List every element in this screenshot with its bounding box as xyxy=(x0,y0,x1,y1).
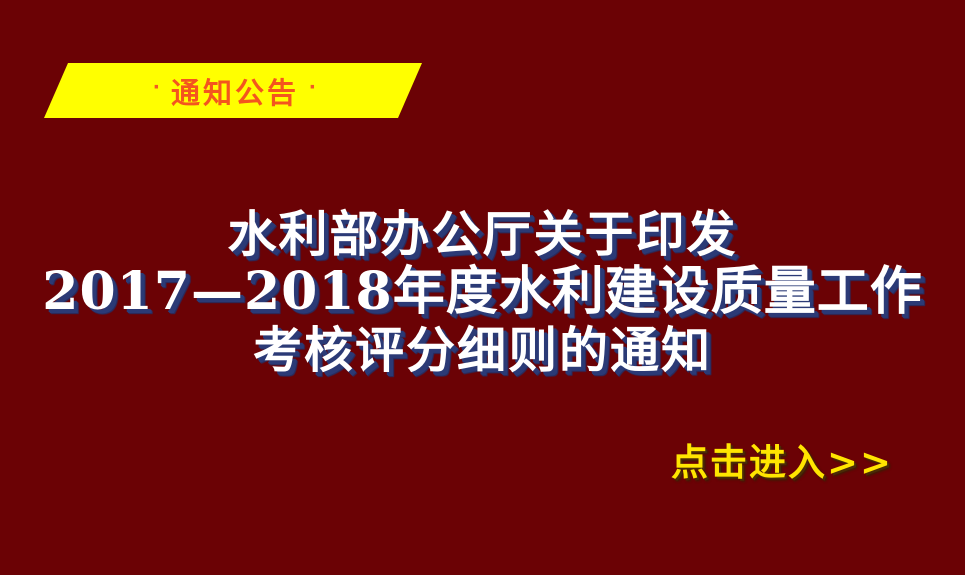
ribbon-left-dot-icon: · xyxy=(153,76,161,100)
ribbon-content: · 通知公告 · xyxy=(44,63,422,118)
announcement-title-line-2: 2017—2018年度水利建设质量工作 xyxy=(0,263,965,321)
ribbon-right-dot-icon: · xyxy=(309,76,317,100)
announcement-title-line-1: 水利部办公厅关于印发 xyxy=(0,205,965,263)
cta-row: 点击进入>> xyxy=(0,432,965,486)
ribbon-label: 通知公告 xyxy=(171,70,299,112)
announcement-title: 水利部办公厅关于印发 2017—2018年度水利建设质量工作 考核评分细则的通知 xyxy=(0,205,965,379)
announcement-title-line-3: 考核评分细则的通知 xyxy=(0,321,965,379)
enter-link[interactable]: 点击进入>> xyxy=(671,432,893,486)
announcement-card: · 通知公告 · 水利部办公厅关于印发 2017—2018年度水利建设质量工作 … xyxy=(0,0,965,575)
notice-ribbon[interactable]: · 通知公告 · xyxy=(44,63,422,118)
